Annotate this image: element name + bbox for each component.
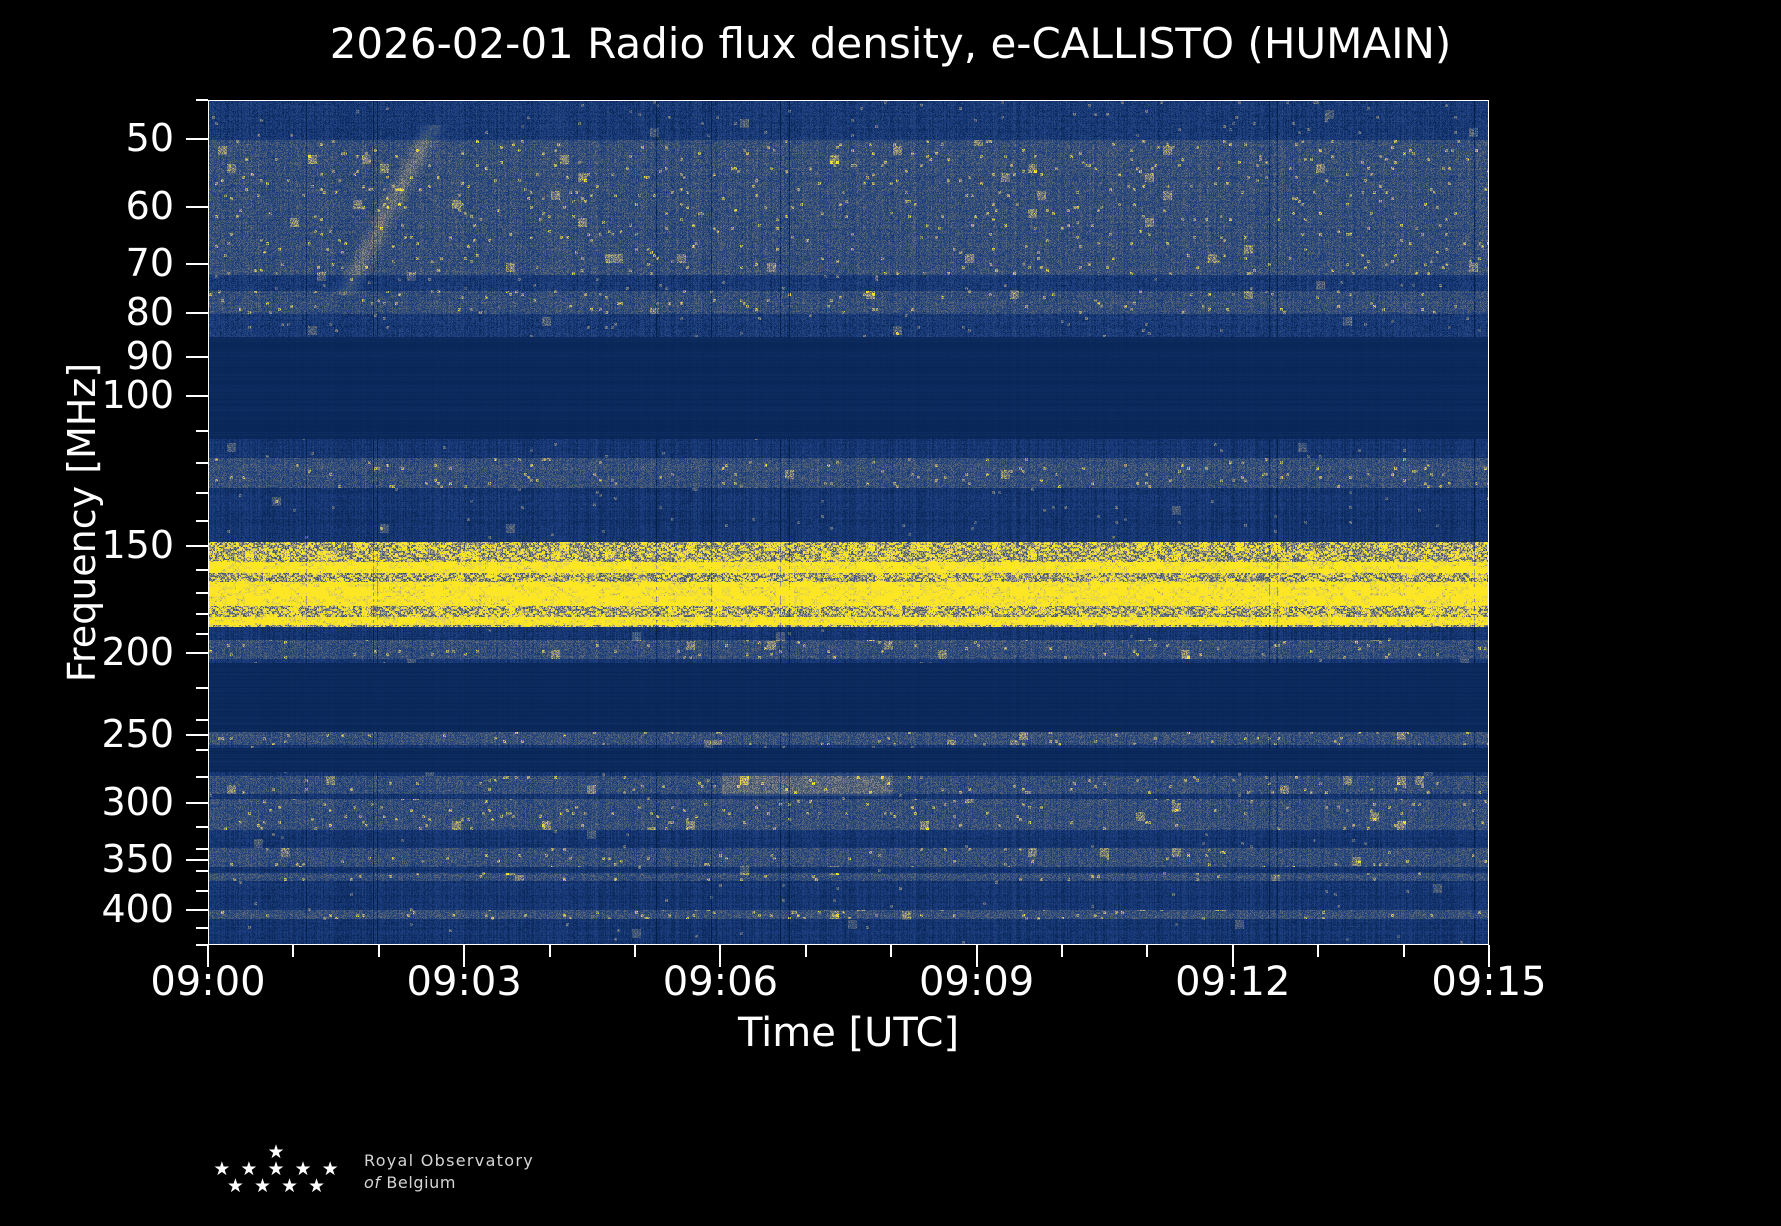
y-minor-tick-mark [196, 633, 208, 635]
royal-observatory-logo: ★ ★ ★ ★ ★ ★ ★ ★ ★ ★ Royal Observatory of… [196, 1144, 616, 1210]
logo-country-word: Belgium [386, 1173, 456, 1192]
y-tick-mark [186, 356, 208, 358]
star-icon: ★ [281, 1178, 298, 1195]
y-tick-mark [186, 138, 208, 140]
spectrogram-figure: 2026-02-01 Radio flux density, e-CALLIST… [0, 0, 1781, 1226]
logo-star-row-middle: ★ ★ ★ ★ ★ [196, 1161, 356, 1178]
y-tick-mark [186, 802, 208, 804]
y-minor-tick-mark [196, 492, 208, 494]
x-tick-label: 09:12 [1113, 959, 1353, 1005]
x-minor-tick-mark [805, 945, 807, 957]
x-minor-tick-mark [1403, 945, 1405, 957]
logo-line-1: Royal Observatory [364, 1150, 614, 1172]
y-minor-tick-mark [196, 592, 208, 594]
y-minor-tick-mark [196, 99, 208, 101]
y-tick-mark [186, 312, 208, 314]
logo-of-word: of [364, 1173, 381, 1192]
y-minor-tick-mark [196, 613, 208, 615]
x-minor-tick-mark [1061, 945, 1063, 957]
y-tick-mark [186, 263, 208, 265]
x-minor-tick-mark [549, 945, 551, 957]
x-minor-tick-mark [890, 945, 892, 957]
y-tick-mark [186, 395, 208, 397]
y-tick-mark [186, 734, 208, 736]
y-minor-tick-mark [196, 870, 208, 872]
star-icon: ★ [308, 1178, 325, 1195]
page-title: 2026-02-01 Radio flux density, e-CALLIST… [0, 18, 1781, 70]
y-minor-tick-mark [196, 890, 208, 892]
x-minor-tick-mark [378, 945, 380, 957]
y-tick-mark [186, 206, 208, 208]
x-minor-tick-mark [634, 945, 636, 957]
plot-area [208, 100, 1489, 945]
logo-text: Royal Observatory of Belgium [364, 1150, 614, 1194]
y-minor-tick-mark [196, 927, 208, 929]
x-minor-tick-mark [292, 945, 294, 957]
y-tick-mark [186, 545, 208, 547]
x-axis-title: Time [UTC] [208, 1008, 1489, 1058]
x-tick-label: 09:00 [88, 959, 328, 1005]
y-minor-tick-mark [196, 826, 208, 828]
x-minor-tick-mark [1146, 945, 1148, 957]
y-minor-tick-mark [196, 687, 208, 689]
y-axis-title: Frequency [MHz] [52, 100, 112, 945]
y-minor-tick-mark [196, 749, 208, 751]
star-icon: ★ [227, 1178, 244, 1195]
y-minor-tick-mark [196, 520, 208, 522]
y-minor-tick-mark [196, 569, 208, 571]
x-tick-label: 09:03 [344, 959, 584, 1005]
y-minor-tick-mark [196, 430, 208, 432]
x-tick-label: 09:09 [857, 959, 1097, 1005]
y-tick-mark [186, 652, 208, 654]
y-minor-tick-mark [196, 848, 208, 850]
x-minor-tick-mark [1317, 945, 1319, 957]
spectrogram-image [209, 101, 1489, 945]
y-tick-mark [186, 859, 208, 861]
logo-stars-icon: ★ ★ ★ ★ ★ ★ ★ ★ ★ ★ [196, 1144, 356, 1206]
star-icon: ★ [254, 1178, 271, 1195]
y-minor-tick-mark [196, 462, 208, 464]
y-minor-tick-mark [196, 776, 208, 778]
logo-star-row-bottom: ★ ★ ★ ★ [196, 1178, 356, 1195]
x-tick-label: 09:15 [1369, 959, 1609, 1005]
y-minor-tick-mark [196, 719, 208, 721]
y-tick-mark [186, 909, 208, 911]
x-tick-label: 09:06 [600, 959, 840, 1005]
logo-line-2: of Belgium [364, 1172, 614, 1194]
